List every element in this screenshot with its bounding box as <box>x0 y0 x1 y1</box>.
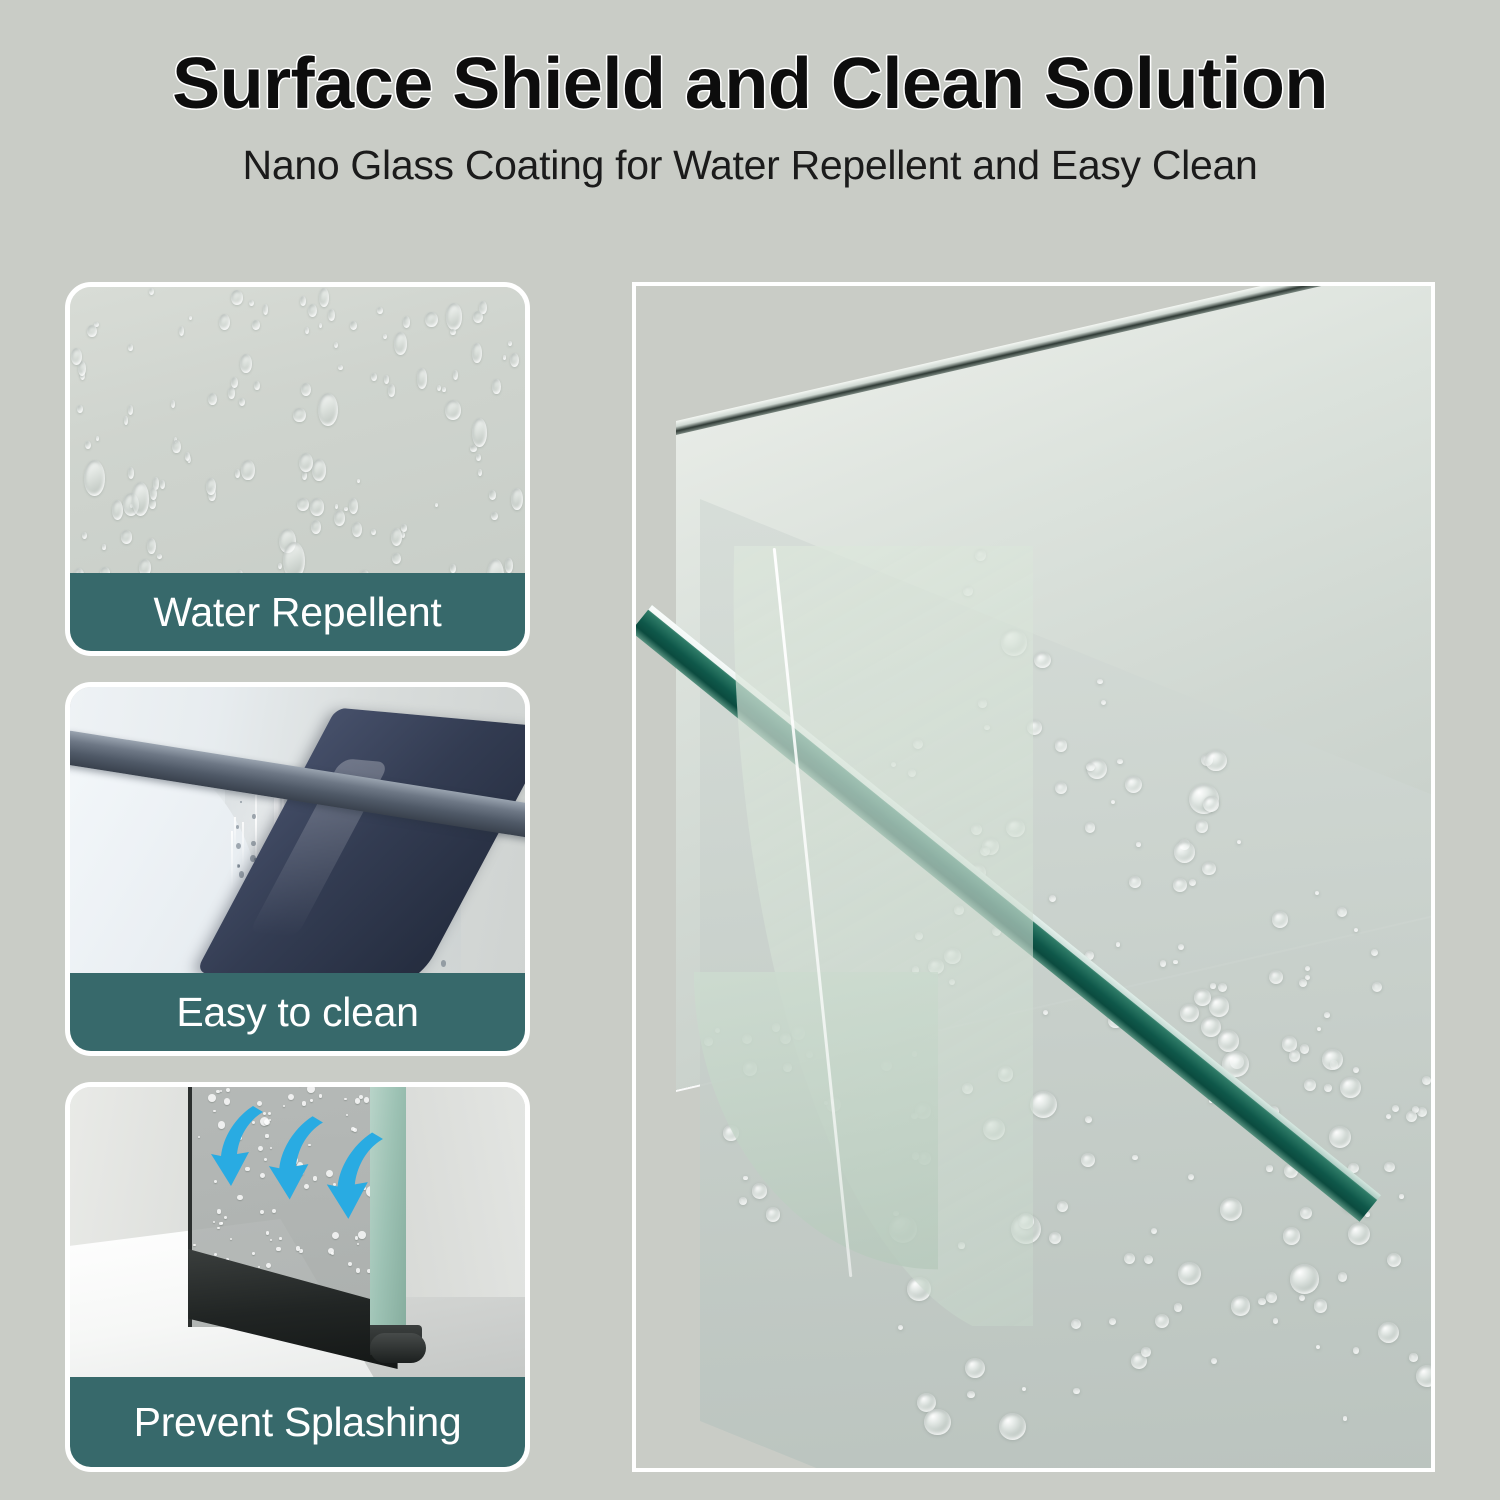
splash-droplet <box>214 1253 217 1256</box>
water-bead <box>1117 759 1122 764</box>
water-droplet <box>453 370 458 380</box>
hero-panel[interactable] <box>632 282 1435 1472</box>
water-bead <box>1132 1155 1138 1161</box>
water-bead <box>1034 652 1051 669</box>
water-droplet <box>208 393 217 405</box>
water-droplet <box>263 304 269 315</box>
water-repellent-label: Water Repellent <box>70 573 525 651</box>
water-bead <box>1073 1388 1080 1395</box>
feature-card-water-repellent[interactable]: Water Repellent <box>65 282 530 656</box>
water-speck <box>252 814 256 819</box>
splash-droplet <box>217 1209 221 1213</box>
splash-droplet <box>355 1098 361 1104</box>
water-bead <box>1387 1253 1401 1267</box>
water-droplet <box>87 325 97 337</box>
water-bead <box>1196 820 1209 833</box>
water-streak <box>242 822 244 867</box>
splash-droplet <box>198 1136 200 1138</box>
splash-droplet <box>364 1097 369 1102</box>
water-droplet <box>371 529 376 535</box>
water-bead <box>1272 911 1288 927</box>
water-bead <box>1194 989 1211 1006</box>
water-droplet <box>172 440 180 454</box>
water-bead <box>752 1183 767 1198</box>
water-bead <box>743 1176 747 1180</box>
water-droplet <box>121 530 133 544</box>
splash-droplet <box>260 1210 264 1214</box>
water-droplet <box>473 311 483 323</box>
water-droplet <box>157 554 162 559</box>
water-droplet <box>85 441 91 449</box>
splash-droplet <box>219 1222 223 1226</box>
splash-droplet <box>302 1101 306 1105</box>
water-bead <box>1220 1198 1243 1221</box>
feature-card-list: Water Repellent Easy to clean <box>65 282 530 1472</box>
water-droplet <box>102 544 105 549</box>
water-droplet <box>383 334 387 339</box>
water-droplet <box>302 471 307 480</box>
page-title: Surface Shield and Clean Solution <box>0 48 1500 120</box>
water-bead <box>1340 1077 1361 1098</box>
splash-droplet <box>357 1243 359 1245</box>
water-droplet <box>371 373 377 381</box>
splash-droplet <box>346 1114 348 1116</box>
water-droplet <box>491 512 497 520</box>
water-bead <box>1258 1298 1265 1305</box>
water-droplet <box>334 342 338 348</box>
water-bead <box>1324 1012 1330 1018</box>
water-droplet <box>476 454 481 461</box>
water-bead <box>1124 1253 1135 1264</box>
splash-droplet <box>310 1099 312 1101</box>
water-bead <box>1049 1232 1061 1244</box>
water-droplet <box>425 312 438 328</box>
water-droplet <box>489 490 496 500</box>
water-droplet <box>301 383 311 396</box>
water-droplet <box>505 558 513 573</box>
water-droplet <box>472 418 487 447</box>
water-bead <box>1290 1264 1319 1293</box>
feature-card-easy-to-clean[interactable]: Easy to clean <box>65 682 530 1056</box>
water-flow-arrow-icon <box>207 1102 271 1198</box>
water-bead <box>1160 960 1166 966</box>
water-droplet <box>228 387 234 399</box>
water-bead <box>1085 1116 1092 1123</box>
water-droplet <box>293 408 305 423</box>
water-droplet <box>299 453 313 472</box>
splash-droplet <box>331 1252 334 1255</box>
hero-illustration <box>636 286 1431 1468</box>
water-speck <box>240 801 242 803</box>
water-bead <box>1218 1030 1240 1052</box>
water-droplet <box>254 381 259 391</box>
water-droplet <box>112 500 123 520</box>
water-droplet <box>435 503 438 507</box>
water-droplet <box>334 510 345 526</box>
water-droplet <box>446 303 462 329</box>
water-bead <box>1210 983 1216 989</box>
water-droplet <box>160 480 165 489</box>
water-bead <box>967 1391 974 1398</box>
water-droplet <box>82 532 87 539</box>
easy-to-clean-photo <box>70 687 525 983</box>
splash-droplet <box>220 1090 222 1092</box>
water-droplet <box>478 469 482 476</box>
splash-droplet <box>217 1227 220 1230</box>
water-bead <box>1211 1358 1217 1364</box>
splash-droplet <box>258 1266 261 1269</box>
water-bead <box>1371 949 1378 956</box>
water-bead <box>1299 979 1307 987</box>
water-droplet <box>278 563 282 569</box>
water-bead <box>1144 1255 1153 1264</box>
water-bead <box>1155 1314 1169 1328</box>
water-bead <box>1231 1296 1250 1315</box>
water-droplet <box>239 398 245 406</box>
water-droplet <box>450 329 456 335</box>
splash-droplet <box>208 1094 216 1102</box>
splash-droplet <box>283 1105 285 1107</box>
water-repellent-photo <box>70 287 525 583</box>
water-bead <box>1314 1299 1327 1312</box>
water-bead <box>1129 876 1141 888</box>
water-bead <box>1116 942 1120 946</box>
water-bead <box>1174 1303 1183 1312</box>
water-droplet <box>394 332 407 355</box>
water-droplet <box>240 354 252 373</box>
water-bead <box>1386 1114 1391 1119</box>
page-header: Surface Shield and Clean Solution Nano G… <box>0 0 1500 189</box>
water-droplet <box>231 290 243 305</box>
splash-droplet <box>356 1268 360 1272</box>
water-bead <box>1086 763 1094 771</box>
water-bead <box>1178 1262 1201 1285</box>
water-droplet <box>71 348 82 366</box>
water-bead <box>1097 679 1103 685</box>
water-bead <box>1338 1272 1348 1282</box>
water-droplet <box>388 384 396 396</box>
water-bead <box>1173 878 1187 892</box>
water-bead <box>1317 1027 1321 1031</box>
water-bead <box>1209 996 1230 1017</box>
water-droplet <box>308 304 317 318</box>
water-bead <box>1081 1153 1095 1167</box>
water-droplet <box>149 499 156 509</box>
water-droplet <box>206 478 216 496</box>
water-droplet <box>185 452 190 461</box>
water-bead <box>1354 928 1358 932</box>
splash-droplet <box>344 1098 347 1101</box>
water-bead <box>924 1409 950 1435</box>
page-subtitle: Nano Glass Coating for Water Repellent a… <box>0 142 1500 189</box>
water-bead <box>1406 1111 1417 1122</box>
water-bead <box>1085 822 1096 833</box>
water-bead <box>1218 983 1227 992</box>
splash-droplet <box>276 1247 280 1251</box>
water-bead <box>1266 1165 1272 1171</box>
water-droplet <box>510 353 519 367</box>
water-droplet <box>300 296 306 306</box>
splash-droplet <box>332 1232 340 1240</box>
splash-droplet <box>224 1216 227 1219</box>
water-bead <box>1283 1227 1301 1245</box>
water-droplet <box>305 327 309 334</box>
splash-droplet <box>213 1221 215 1223</box>
splash-droplet <box>358 1231 366 1239</box>
splash-droplet <box>307 1087 315 1093</box>
water-droplet <box>492 379 500 394</box>
water-bead <box>1141 1347 1151 1357</box>
water-bead <box>1071 1319 1081 1329</box>
water-flow-arrow-icon <box>264 1112 331 1212</box>
water-bead <box>1289 1050 1300 1061</box>
water-droplet <box>328 309 335 321</box>
water-bead <box>1343 1416 1347 1420</box>
water-droplet <box>310 498 325 516</box>
splash-droplet <box>226 1088 231 1093</box>
water-bead <box>1324 1084 1332 1092</box>
water-bead <box>1273 1318 1279 1324</box>
water-bead <box>1055 739 1067 751</box>
water-droplet <box>391 528 402 546</box>
water-bead <box>1180 1004 1199 1023</box>
water-bead <box>1300 1044 1309 1053</box>
feature-card-prevent-splashing[interactable]: Prevent Splashing <box>65 1082 530 1472</box>
content-area: Water Repellent Easy to clean <box>0 282 1500 1472</box>
water-bead <box>1329 1126 1351 1148</box>
prevent-splashing-label: Prevent Splashing <box>70 1377 525 1467</box>
water-bead <box>1174 841 1195 862</box>
water-droplet <box>318 393 338 427</box>
water-droplet <box>150 487 157 500</box>
water-droplet <box>297 498 309 511</box>
splash-droplet <box>266 1263 271 1268</box>
prevent-splashing-photo <box>70 1087 525 1387</box>
water-droplet <box>350 321 357 330</box>
water-bead <box>1304 1079 1316 1091</box>
seal-tube-end <box>370 1333 426 1363</box>
splash-droplet <box>288 1094 294 1100</box>
water-droplet <box>511 488 523 510</box>
water-bead <box>1399 1194 1403 1198</box>
water-droplet <box>312 459 326 481</box>
water-droplet <box>417 368 428 388</box>
water-bead <box>1202 862 1216 876</box>
splash-droplet <box>266 1231 269 1234</box>
water-droplet <box>352 522 362 537</box>
splash-droplet <box>270 1239 272 1241</box>
water-droplet <box>450 564 456 573</box>
water-droplet <box>403 316 411 328</box>
splash-droplet <box>319 1094 323 1098</box>
water-droplet <box>77 405 83 413</box>
water-bead <box>1353 1347 1359 1353</box>
water-droplet <box>149 288 154 295</box>
water-bead <box>1416 1365 1435 1387</box>
water-droplet <box>241 460 255 480</box>
splash-droplet <box>252 1252 255 1255</box>
water-droplet <box>311 520 321 534</box>
water-droplet <box>338 365 342 370</box>
water-bead <box>965 1358 985 1378</box>
water-bead <box>739 1197 747 1205</box>
water-bead <box>1305 966 1310 971</box>
water-speck <box>239 871 244 878</box>
water-bead <box>1322 1049 1343 1070</box>
water-droplet <box>235 469 240 478</box>
easy-to-clean-label: Easy to clean <box>70 973 525 1051</box>
water-droplet <box>442 387 445 393</box>
water-droplet <box>132 482 149 516</box>
splash-droplet <box>348 1262 352 1266</box>
water-bead <box>1136 842 1140 846</box>
water-flow-arrow-icon <box>322 1128 391 1232</box>
water-bead <box>1300 1207 1312 1219</box>
water-droplet <box>508 341 512 347</box>
water-droplet <box>128 344 133 350</box>
water-droplet <box>179 326 184 336</box>
water-bead <box>1409 1353 1417 1361</box>
splash-droplet <box>230 1238 232 1240</box>
water-speck <box>441 960 446 967</box>
water-droplet <box>219 314 230 330</box>
water-bead <box>1205 750 1226 771</box>
water-streak <box>231 831 233 890</box>
splash-droplet <box>279 1237 282 1240</box>
water-droplet <box>445 400 461 420</box>
water-droplet <box>392 553 401 564</box>
water-droplet <box>377 307 383 315</box>
splash-droplet <box>193 1244 196 1247</box>
water-droplet <box>252 320 260 330</box>
